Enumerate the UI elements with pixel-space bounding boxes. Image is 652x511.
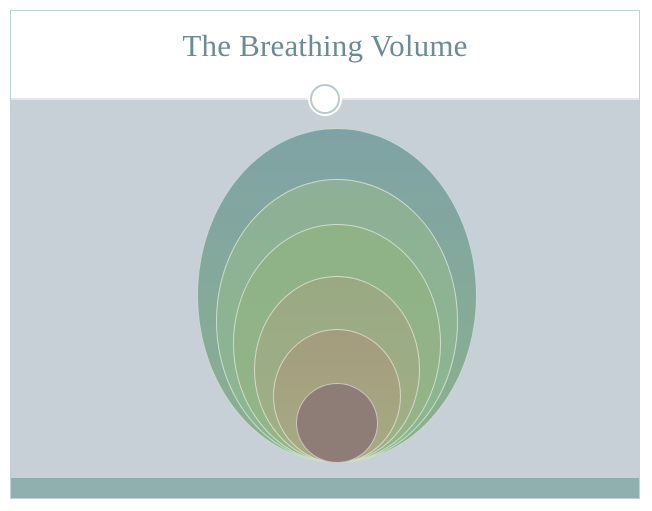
slide-body [11,100,639,478]
slide-footer-bar [11,478,639,499]
presentation-slide: The Breathing Volume [10,10,640,499]
circle-ornament-icon [310,84,340,114]
volume-layer-6 [296,383,378,463]
page-title: The Breathing Volume [11,28,639,64]
